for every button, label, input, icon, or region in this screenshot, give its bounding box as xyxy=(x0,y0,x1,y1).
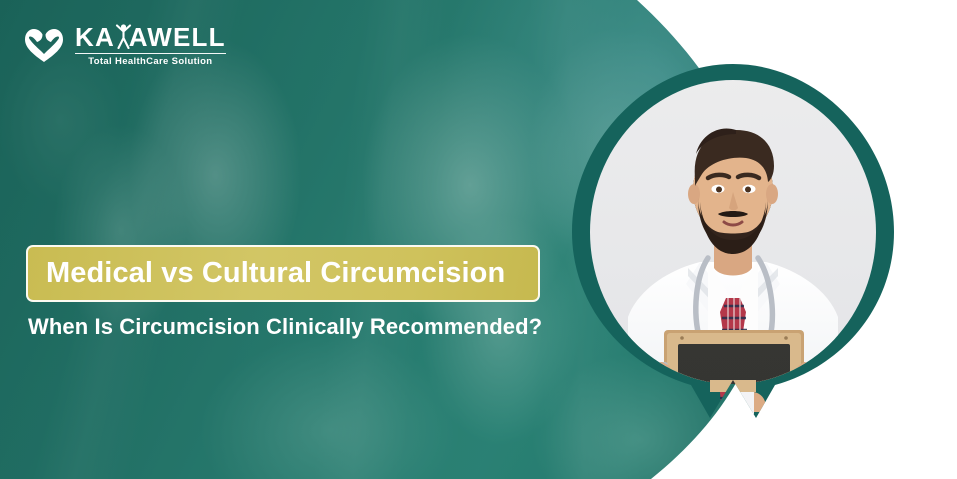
logo-word: KAYAWELL xyxy=(75,24,226,53)
hands-heart-icon xyxy=(22,25,66,65)
logo-tagline: Total HealthCare Solution xyxy=(75,53,226,67)
headline-band: Medical vs Cultural Circumcision xyxy=(26,245,540,302)
logo-wordmark: KAYAWELL Total HealthCare Solution xyxy=(75,24,226,67)
page-subtitle: When Is Circumcision Clinically Recommen… xyxy=(28,314,542,340)
blog-banner: KAYAWELL Total HealthCare Solution Medic… xyxy=(0,0,957,479)
page-title: Medical vs Cultural Circumcision xyxy=(46,257,505,290)
doctor-portrait-bubble xyxy=(568,62,898,422)
brand-logo[interactable]: KAYAWELL Total HealthCare Solution xyxy=(22,24,226,67)
logo-word-after: AWELL xyxy=(129,22,226,52)
person-raised-arms-icon xyxy=(115,23,132,49)
logo-word-before: KA xyxy=(75,22,113,52)
